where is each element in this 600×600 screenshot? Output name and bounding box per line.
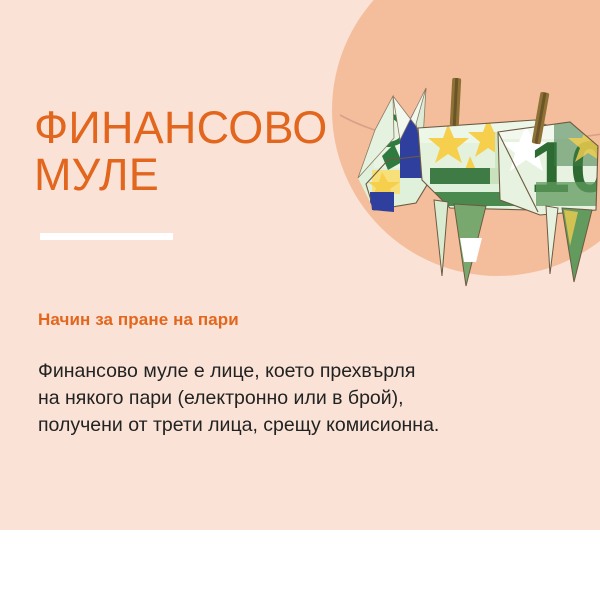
paragraph-line-2: на някого пари (електронно или в брой), <box>38 385 558 412</box>
page-title: ФИНАНСОВО МУЛЕ <box>34 104 374 198</box>
title-line-2: МУЛЕ <box>34 151 374 198</box>
clothespin-left <box>450 78 461 126</box>
paragraph-line-1: Финансово муле е лице, което прехвърля <box>38 358 558 385</box>
donkey-legs <box>434 200 592 286</box>
footer-bar: EUR POL EC3 European Cybercrime Centre <box>0 530 600 600</box>
body-paragraph: Финансово муле е лице, което прехвърля н… <box>38 358 558 439</box>
title-line-1: ФИНАНСОВО <box>34 104 374 151</box>
paragraph-line-3: получени от трети лица, срещу комисионна… <box>38 412 558 439</box>
infographic-card: 10 <box>0 0 600 600</box>
hero-section: 10 <box>0 0 600 530</box>
title-underline-rule <box>40 233 173 240</box>
section-subtitle: Начин за пране на пари <box>38 310 239 330</box>
